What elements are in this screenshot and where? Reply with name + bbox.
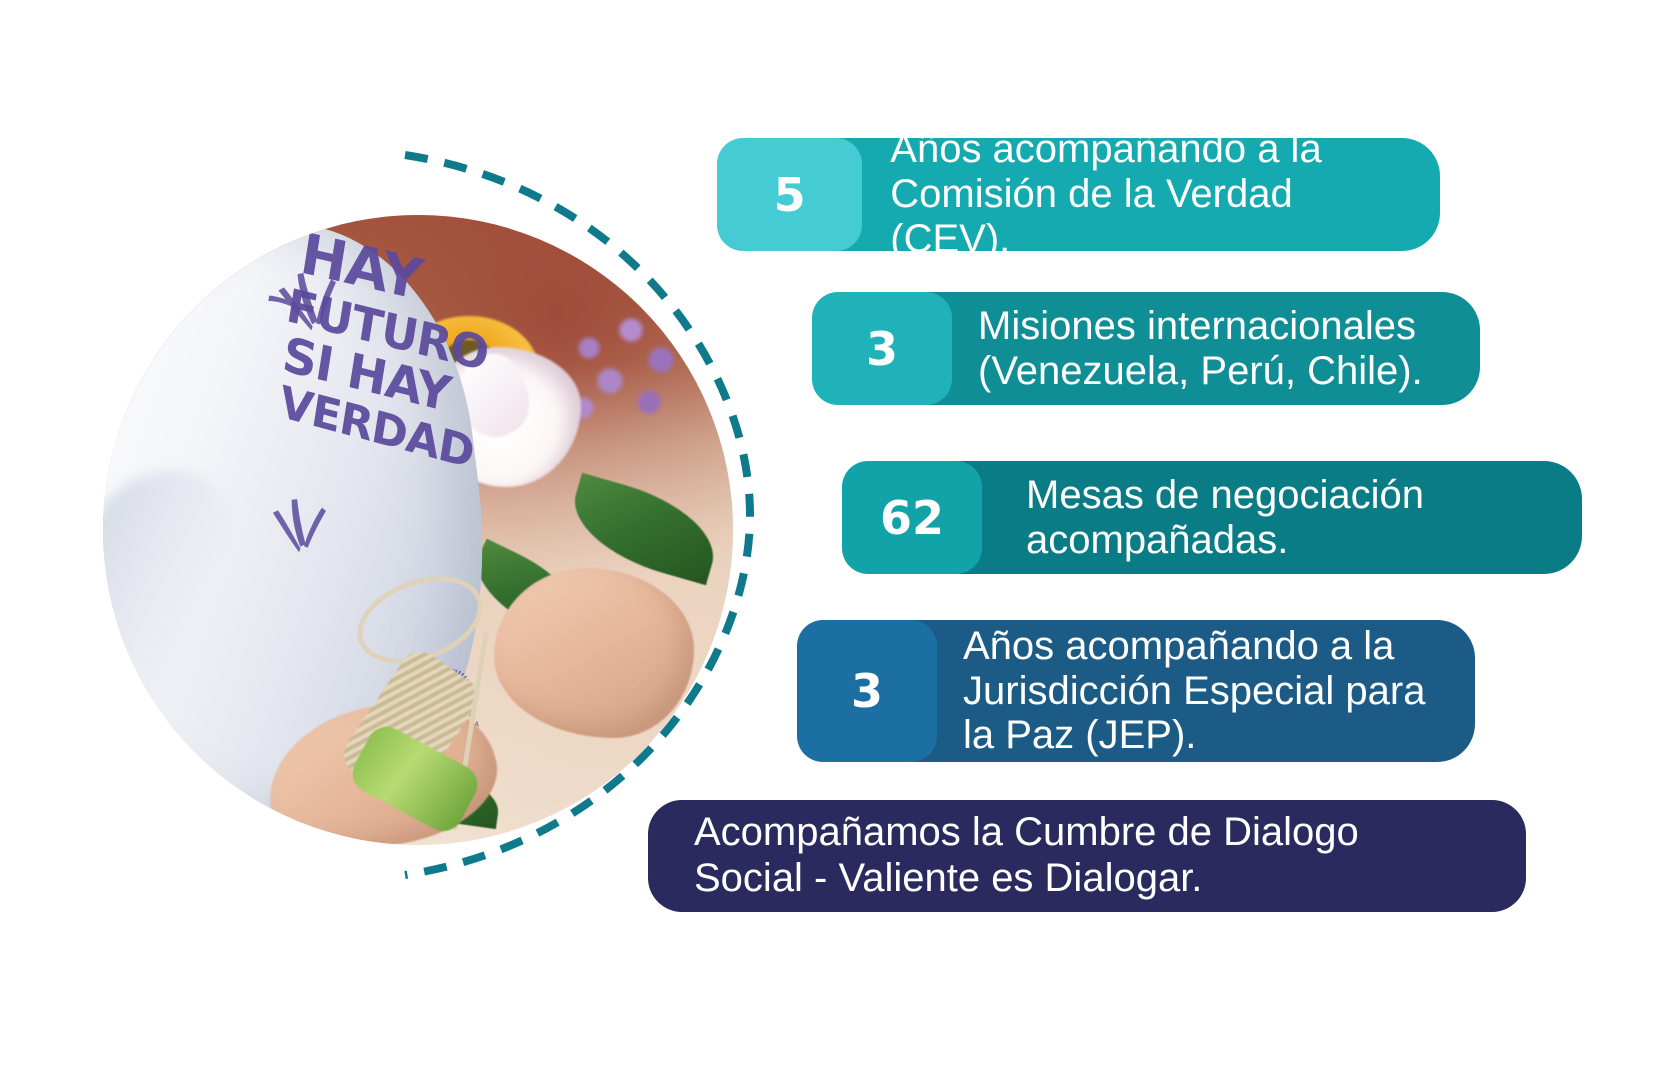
stat-row[interactable]: 3 Años acompañando a la Jurisdicción Esp… xyxy=(797,620,1475,762)
infographic-canvas: HAY FUTURO SI HAY VERDAD xyxy=(0,0,1657,1081)
stat-badge: 3 xyxy=(812,292,952,405)
bottom-highlight-text: Acompañamos la Cumbre de Dialogo Social … xyxy=(694,810,1359,901)
stat-value: 3 xyxy=(851,664,883,718)
bottom-highlight-bar[interactable]: Acompañamos la Cumbre de Dialogo Social … xyxy=(648,800,1526,912)
stat-value: 3 xyxy=(866,322,898,376)
stat-label: Años acompañando a la Comisión de la Ver… xyxy=(862,138,1440,251)
stats-list: 5 Años acompañando a la Comisión de la V… xyxy=(0,0,1657,1081)
stat-row[interactable]: 5 Años acompañando a la Comisión de la V… xyxy=(717,138,1440,251)
stat-row[interactable]: 3 Misiones internacionales (Venezuela, P… xyxy=(812,292,1480,405)
stat-label: Mesas de negociación acompañadas. xyxy=(982,461,1450,574)
stat-badge: 62 xyxy=(842,461,982,574)
stat-label: Misiones internacionales (Venezuela, Per… xyxy=(952,292,1449,405)
stat-badge: 5 xyxy=(717,138,862,251)
stat-label: Años acompañando a la Jurisdicción Espec… xyxy=(937,620,1451,762)
stat-badge: 3 xyxy=(797,620,937,762)
stat-row[interactable]: 62 Mesas de negociación acompañadas. xyxy=(842,461,1582,574)
stat-value: 62 xyxy=(880,491,944,545)
stat-value: 5 xyxy=(774,168,806,222)
